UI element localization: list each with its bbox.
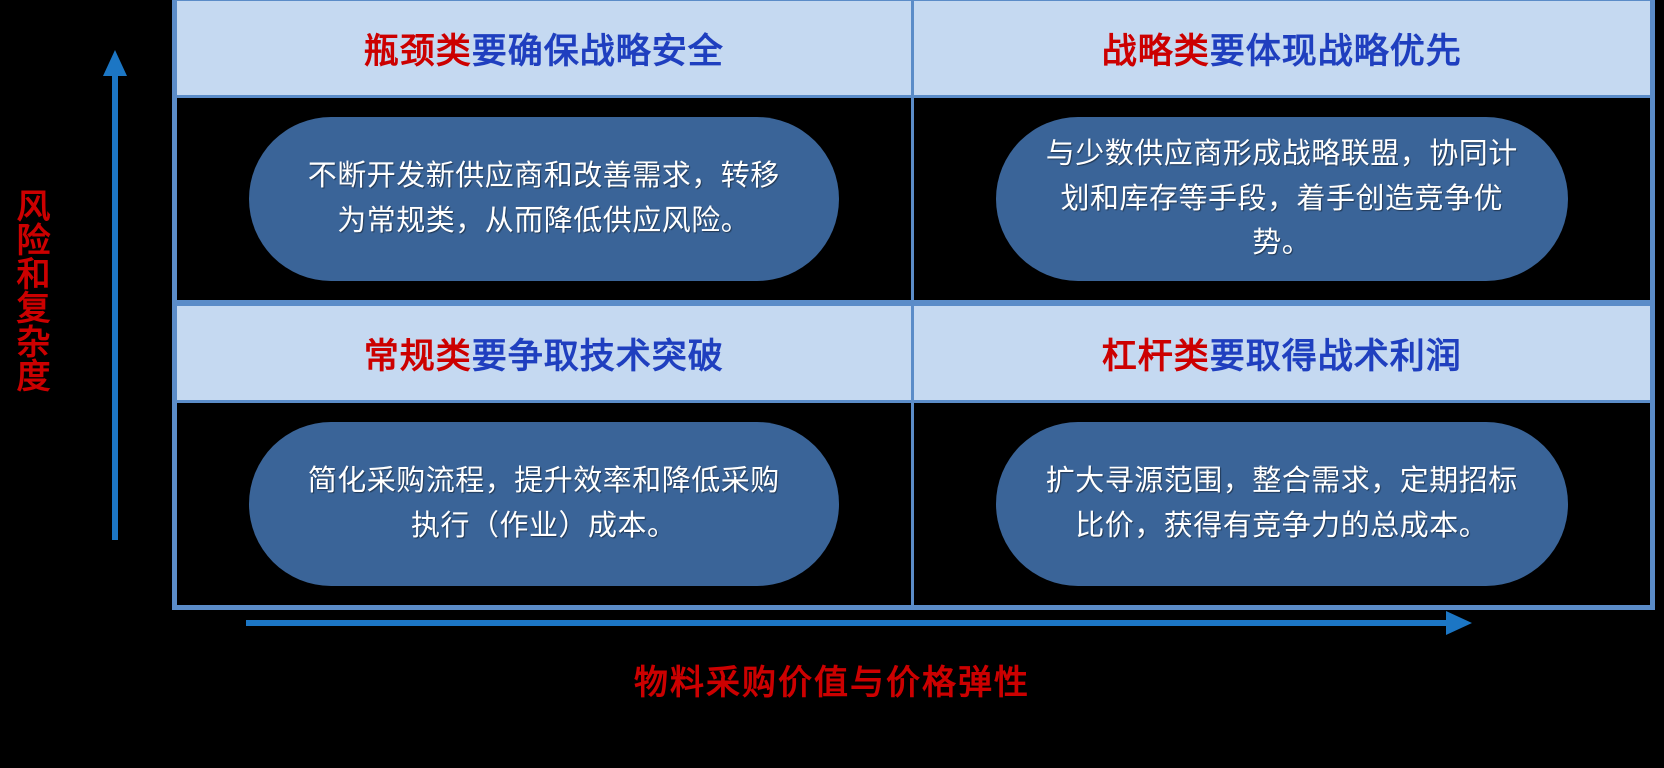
quadrant-strategic-bubble: 与少数供应商形成战略联盟，协同计划和库存等手段，着手创造竞争优势。: [996, 117, 1568, 281]
y-axis-label-char: 度: [6, 360, 62, 394]
quadrant-bottleneck[interactable]: 瓶颈类要确保战略安全 不断开发新供应商和改善需求，转移为常规类，从而降低供应风险…: [177, 1, 914, 303]
quadrant-routine-header: 常规类要争取技术突破: [177, 303, 911, 403]
y-axis-label-char: 杂: [6, 326, 62, 360]
quadrant-bottleneck-bubble: 不断开发新供应商和改善需求，转移为常规类，从而降低供应风险。: [249, 117, 839, 281]
quadrant-strategic-header: 战略类要体现战略优先: [914, 1, 1651, 98]
y-axis-label-char: 和: [6, 258, 62, 292]
quadrant-strategic-body: 与少数供应商形成战略联盟，协同计划和库存等手段，着手创造竞争优势。: [914, 98, 1651, 300]
quadrant-leverage-header: 杠杆类要取得战术利润: [914, 303, 1651, 403]
quadrant-strategic[interactable]: 战略类要体现战略优先 与少数供应商形成战略联盟，协同计划和库存等手段，着手创造竞…: [914, 1, 1651, 303]
quadrant-leverage-title-red: 杠杆类: [1102, 328, 1210, 379]
quadrant-bottleneck-header: 瓶颈类要确保战略安全: [177, 1, 911, 98]
quadrant-routine-body: 简化采购流程，提升效率和降低采购执行（作业）成本。: [177, 403, 911, 605]
y-axis-label-char: 风: [6, 190, 62, 224]
quadrant-leverage-body: 扩大寻源范围，整合需求，定期招标比价，获得有竞争力的总成本。: [914, 403, 1651, 605]
x-axis-label: 物料采购价值与价格弹性: [0, 655, 1664, 704]
y-axis-label-char: 复: [6, 292, 62, 326]
quadrant-strategic-title-red: 战略类: [1102, 23, 1210, 74]
x-axis-line: [246, 620, 1456, 626]
quadrant-leverage-bubble: 扩大寻源范围，整合需求，定期招标比价，获得有竞争力的总成本。: [996, 422, 1568, 586]
quadrant-routine[interactable]: 常规类要争取技术突破 简化采购流程，提升效率和降低采购执行（作业）成本。: [177, 303, 914, 605]
kraljic-matrix: 瓶颈类要确保战略安全 不断开发新供应商和改善需求，转移为常规类，从而降低供应风险…: [172, 0, 1655, 610]
quadrant-bottleneck-body: 不断开发新供应商和改善需求，转移为常规类，从而降低供应风险。: [177, 98, 911, 300]
x-axis-arrow-icon: [1446, 611, 1472, 635]
y-axis-label-char: 险: [6, 224, 62, 258]
quadrant-leverage-title-blue: 要取得战术利润: [1210, 328, 1462, 379]
quadrant-routine-bubble: 简化采购流程，提升效率和降低采购执行（作业）成本。: [249, 422, 839, 586]
quadrant-strategic-title-blue: 要体现战略优先: [1210, 23, 1462, 74]
quadrant-routine-title-red: 常规类: [364, 328, 472, 379]
quadrant-leverage[interactable]: 杠杆类要取得战术利润 扩大寻源范围，整合需求，定期招标比价，获得有竞争力的总成本…: [914, 303, 1651, 605]
y-axis-label: 风 险 和 复 杂 度: [6, 190, 62, 394]
quadrant-bottleneck-title-blue: 要确保战略安全: [472, 23, 724, 74]
y-axis-line: [112, 70, 118, 540]
quadrant-routine-title-blue: 要争取技术突破: [472, 328, 724, 379]
quadrant-bottleneck-title-red: 瓶颈类: [364, 23, 472, 74]
